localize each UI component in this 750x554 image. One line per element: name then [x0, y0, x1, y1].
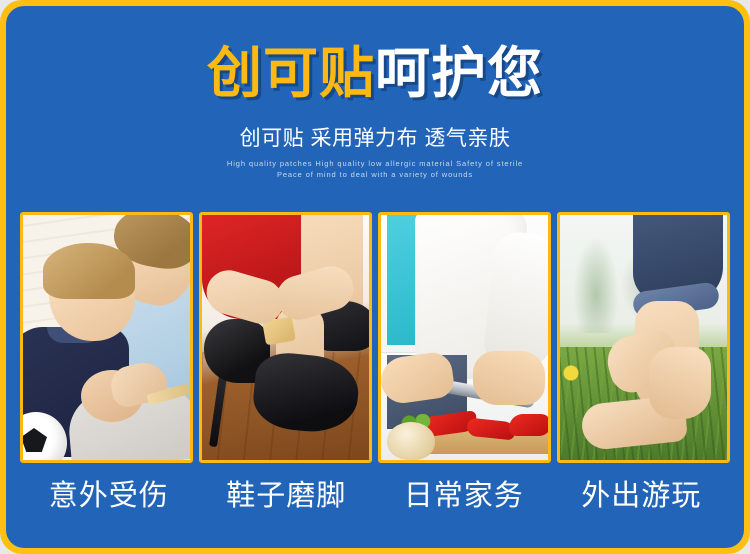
onion [387, 422, 435, 460]
english-line-1: High quality patches High quality low al… [6, 158, 744, 169]
subtitle: 创可贴 采用弹力布 透气亲肤 [6, 124, 744, 154]
photo-accident-injury [23, 215, 190, 460]
supporting-hand [649, 347, 711, 419]
banner-inner-panel: 创可贴呵护您 创可贴 采用弹力布 透气亲肤 High quality patch… [6, 6, 744, 548]
english-line-2: Peace of mind to deal with a variety of … [6, 169, 744, 180]
photo-card-outdoor-trip[interactable] [557, 212, 730, 463]
photo-shoe-blister [202, 215, 369, 460]
photo-card-accident[interactable] [20, 212, 193, 463]
caption-row: 意外受伤 鞋子磨脚 日常家务 外出游玩 [20, 472, 730, 520]
background-tree [574, 237, 618, 333]
caption-housework: 日常家务 [375, 472, 553, 520]
caption-accident: 意外受伤 [20, 472, 198, 520]
photo-card-shoe-chafing[interactable] [199, 212, 372, 463]
headline-part-a: 创可贴 [207, 42, 375, 104]
photo-strip [20, 212, 730, 463]
photo-kitchen-cutting [381, 215, 548, 460]
photo-card-housework[interactable] [378, 212, 551, 463]
english-tagline: High quality patches High quality low al… [6, 158, 744, 180]
hand-holding-vegetable [473, 351, 545, 405]
red-pepper-slice [509, 414, 548, 436]
caption-shoe-chafing: 鞋子磨脚 [198, 472, 376, 520]
headline-part-b: 呵护您 [375, 42, 543, 104]
yellow-flower [562, 365, 580, 381]
promo-banner: 创可贴呵护您 创可贴 采用弹力布 透气亲肤 High quality patch… [0, 0, 750, 554]
caption-outdoor-trip: 外出游玩 [553, 472, 731, 520]
photo-outdoor-feet [560, 215, 727, 460]
child-hair [43, 243, 135, 299]
page-title: 创可贴呵护您 [6, 40, 744, 106]
